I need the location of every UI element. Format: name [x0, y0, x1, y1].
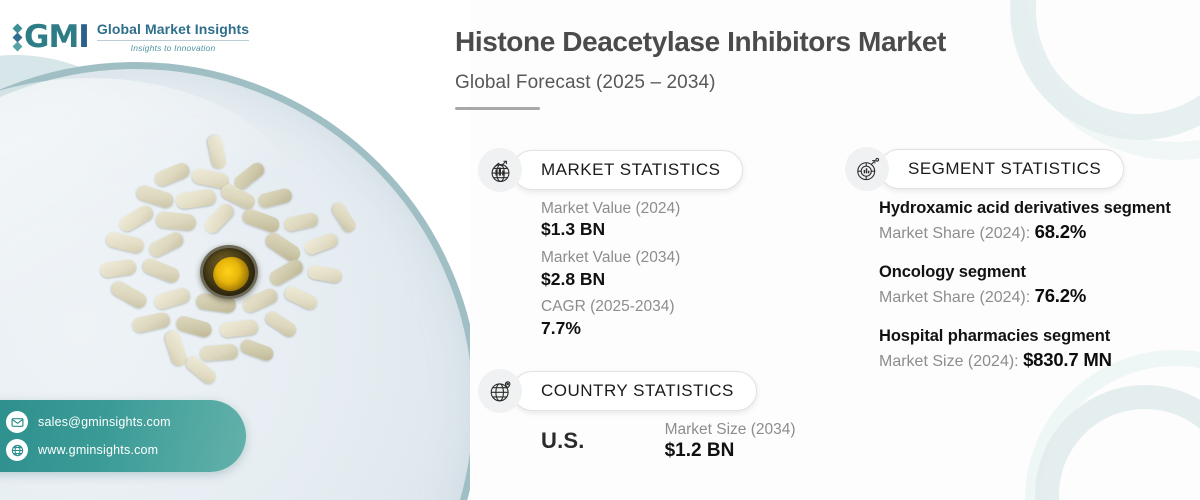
logo-wordmark: Global Market Insights Insights to Innov… [97, 22, 249, 53]
country-stat-label: Market Size (2034) [665, 420, 796, 439]
globe-bar-chart-icon [478, 148, 522, 192]
contact-website-row[interactable]: www.gminsights.com [6, 439, 246, 461]
market-stat-label: Market Value (2024) [541, 199, 680, 218]
logo-gmi-text: GMI [24, 22, 89, 53]
amber-capsule [200, 245, 258, 299]
segment-statistics-label: SEGMENT STATISTICS [879, 149, 1124, 189]
segment-metric-value: 68.2% [1035, 221, 1086, 242]
product-photo: sales@gminsights.com www.gminsights.com [0, 0, 470, 500]
header-divider [455, 107, 540, 110]
market-stat-value: 7.7% [541, 317, 680, 340]
header: Histone Deacetylase Inhibitors Market Gl… [455, 26, 1075, 110]
contact-email-text: sales@gminsights.com [38, 415, 171, 429]
page-subtitle: Global Forecast (2025 – 2034) [455, 72, 1075, 94]
market-stat-label: Market Value (2034) [541, 248, 680, 267]
logo-divider [97, 40, 249, 41]
market-statistics-label: MARKET STATISTICS [512, 150, 743, 190]
segment-name: Oncology segment [879, 262, 1179, 283]
infographic-canvas: sales@gminsights.com www.gminsights.com [0, 0, 1200, 500]
country-stat-value: $1.2 BN [665, 439, 796, 464]
capsule-pile [92, 145, 362, 390]
logo-diamonds-icon [14, 25, 21, 50]
segment-metric: Market Share (2024): 76.2% [879, 283, 1179, 310]
market-statistics-header: MARKET STATISTICS [478, 148, 743, 192]
country-statistics-header: COUNTRY STATISTICS [478, 369, 757, 413]
market-stat-value: $2.8 BN [541, 268, 680, 291]
segment-metric-label: Market Size (2024): [879, 353, 1023, 370]
segment-item: Hospital pharmacies segment Market Size … [879, 326, 1179, 374]
segment-metric-value: $830.7 MN [1023, 349, 1112, 370]
market-statistics-body: Market Value (2024) $1.3 BN Market Value… [541, 199, 680, 339]
contact-website-text: www.gminsights.com [38, 443, 158, 457]
segment-statistics-header: SEGMENT STATISTICS [845, 147, 1124, 191]
pie-chart-arrow-icon [845, 147, 889, 191]
country-statistics-body: U.S. Market Size (2034) $1.2 BN [541, 420, 961, 464]
segment-item: Oncology segment Market Share (2024): 76… [879, 262, 1179, 310]
envelope-icon [6, 411, 28, 433]
globe-icon [6, 439, 28, 461]
logo-mark: GMI [14, 22, 89, 53]
market-stat-row: CAGR (2025-2034) 7.7% [541, 297, 680, 339]
globe-pin-icon [478, 369, 522, 413]
segment-metric-label: Market Share (2024): [879, 289, 1035, 306]
amber-capsule-core [209, 252, 254, 295]
segment-name: Hospital pharmacies segment [879, 326, 1179, 347]
brand-logo[interactable]: GMI Global Market Insights Insights to I… [14, 22, 249, 53]
country-stat: Market Size (2034) $1.2 BN [665, 420, 796, 464]
contact-bar: sales@gminsights.com www.gminsights.com [0, 400, 246, 472]
market-stat-value: $1.3 BN [541, 218, 680, 241]
decorative-ring-bottom-right [1035, 385, 1200, 500]
segment-item: Hydroxamic acid derivatives segment Mark… [879, 198, 1179, 246]
market-stat-label: CAGR (2025-2034) [541, 297, 680, 316]
segment-metric: Market Size (2024): $830.7 MN [879, 347, 1179, 374]
country-name: U.S. [541, 420, 585, 454]
segment-name: Hydroxamic acid derivatives segment [879, 198, 1179, 219]
segment-metric: Market Share (2024): 68.2% [879, 219, 1179, 246]
logo-company-name: Global Market Insights [97, 22, 249, 37]
page-title: Histone Deacetylase Inhibitors Market [455, 26, 1075, 58]
market-stat-row: Market Value (2024) $1.3 BN [541, 199, 680, 241]
segment-statistics-body: Hydroxamic acid derivatives segment Mark… [879, 198, 1179, 374]
country-statistics-label: COUNTRY STATISTICS [512, 371, 757, 411]
segment-metric-value: 76.2% [1035, 285, 1086, 306]
logo-tagline: Insights to Innovation [97, 43, 249, 53]
segment-metric-label: Market Share (2024): [879, 225, 1035, 242]
contact-email-row[interactable]: sales@gminsights.com [6, 411, 246, 433]
market-stat-row: Market Value (2034) $2.8 BN [541, 248, 680, 290]
